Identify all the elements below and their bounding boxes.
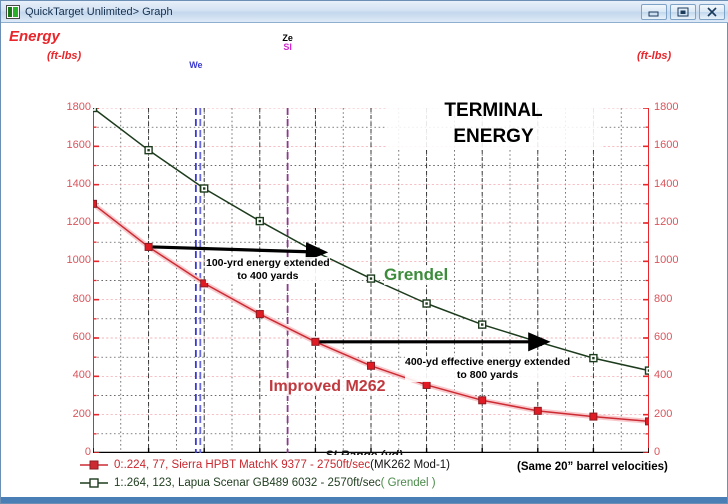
- y-tick-left-1800: 1800: [67, 101, 91, 113]
- y-tick-right-400: 400: [654, 369, 672, 381]
- y-tick-left-400: 400: [73, 369, 91, 381]
- y-tick-left-1600: 1600: [67, 139, 91, 151]
- cursor-ze-si-label: ZeSI: [282, 34, 293, 53]
- legend-item-0[interactable]: 0: .224, 77, Sierra HPBT MatchK 9377 - 2…: [79, 457, 450, 473]
- annotation-100yrd-line1: 100-yrd energy extended: [206, 257, 330, 269]
- legend-marker-open-square: [79, 477, 109, 489]
- restore-button[interactable]: [670, 4, 696, 20]
- legend-desc-0: .224, 77, Sierra HPBT MatchK 9377 - 2750…: [124, 459, 371, 471]
- chart-title-line1: TERMINAL: [444, 100, 542, 121]
- y-tick-right-1800: 1800: [654, 101, 678, 113]
- y-axis-units-right: (ft-lbs): [637, 50, 671, 62]
- y-tick-left-1400: 1400: [67, 178, 91, 190]
- annotation-100yrd: 100-yrd energy extended to 400 yards: [206, 257, 330, 283]
- y-tick-right-1400: 1400: [654, 178, 678, 190]
- legend-paren-0: (MK262 Mod-1): [370, 459, 450, 471]
- series-label-grendel: Grendel: [384, 265, 448, 285]
- cursor-we-label: We: [189, 61, 202, 70]
- annotation-100yrd-line2: to 400 yards: [237, 270, 298, 282]
- legend-note: (Same 20” barrel velocities): [517, 461, 668, 473]
- y-tick-left-1000: 1000: [67, 254, 91, 266]
- status-bar: [1, 497, 727, 503]
- cursor-we-line1: We: [189, 61, 202, 70]
- x-axis-title-text: SI-Range (yd): [325, 448, 402, 455]
- chart-canvas: Energy (ft-lbs) (ft-lbs) 002002004004006…: [1, 23, 727, 455]
- window-titlebar[interactable]: QuickTarget Unlimited> Graph: [1, 1, 728, 23]
- quicktarget-graph-window: QuickTarget Unlimited> Graph Energy: [0, 0, 728, 504]
- chart-title-line2: ENERGY: [453, 126, 533, 147]
- y-tick-right-1600: 1600: [654, 139, 678, 151]
- y-tick-right-600: 600: [654, 331, 672, 343]
- close-button[interactable]: [699, 4, 725, 20]
- plot-area[interactable]: [93, 108, 649, 453]
- legend-index-0: 0:: [114, 459, 124, 471]
- y-tick-right-1000: 1000: [654, 254, 678, 266]
- window-controls: [641, 4, 725, 20]
- x-axis-title: SI-Range (yd): [1, 448, 727, 455]
- y-axis-units-left: (ft-lbs): [47, 50, 81, 62]
- cursor-ze-si-line2: SI: [282, 43, 293, 52]
- app-icon: [6, 5, 20, 19]
- y-tick-left-1200: 1200: [67, 216, 91, 228]
- y-tick-right-800: 800: [654, 293, 672, 305]
- annotation-400yd-line1: 400-yd effective energy extended: [405, 356, 570, 368]
- window-title: QuickTarget Unlimited> Graph: [25, 6, 173, 18]
- chart-title: TERMINAL ENERGY: [386, 98, 601, 149]
- series-label-m262: Improved M262: [269, 378, 385, 396]
- legend-item-1[interactable]: 1: .264, 123, Lapua Scenar GB489 6032 - …: [79, 475, 436, 491]
- y-axis-title: Energy: [9, 28, 60, 45]
- minimize-button[interactable]: [641, 4, 667, 20]
- legend-index-1: 1:: [114, 477, 124, 489]
- annotation-400yd-line2: to 800 yards: [457, 369, 518, 381]
- annotation-400yd: 400-yd effective energy extended to 800 …: [405, 356, 570, 382]
- legend-paren-1: ( Grendel ): [381, 477, 436, 489]
- y-tick-right-1200: 1200: [654, 216, 678, 228]
- plot-svg: [93, 108, 649, 453]
- chart-legend: 0: .224, 77, Sierra HPBT MatchK 9377 - 2…: [1, 455, 727, 503]
- legend-desc-1: .264, 123, Lapua Scenar GB489 6032 - 257…: [124, 477, 381, 489]
- y-tick-left-800: 800: [73, 293, 91, 305]
- y-tick-right-200: 200: [654, 408, 672, 420]
- y-tick-left-200: 200: [73, 408, 91, 420]
- y-tick-left-600: 600: [73, 331, 91, 343]
- legend-marker-filled-square: [79, 459, 109, 471]
